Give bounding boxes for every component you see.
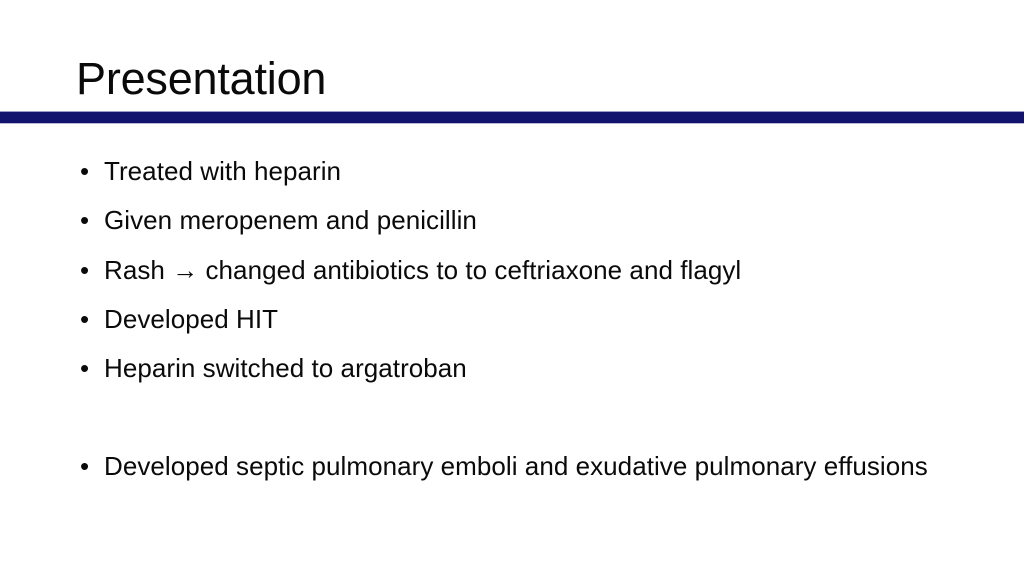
list-item-label: Developed HIT	[104, 303, 956, 336]
page-title: Presentation	[76, 54, 326, 104]
list-item: • Rash → changed antibiotics to to ceftr…	[76, 254, 956, 287]
bullet-list: • Treated with heparin • Given meropenem…	[76, 155, 956, 500]
list-item-label: Treated with heparin	[104, 155, 956, 188]
list-item: • Heparin switched to argatroban	[76, 352, 956, 385]
list-item-label: Developed septic pulmonary emboli and ex…	[104, 450, 956, 483]
list-item-label: Given meropenem and penicillin	[104, 204, 956, 237]
list-item-label: Rash → changed antibiotics to to ceftria…	[104, 254, 956, 287]
bullet-point-icon: •	[80, 303, 89, 336]
list-item: • Developed HIT	[76, 303, 956, 336]
list-item: • Developed septic pulmonary emboli and …	[76, 450, 956, 483]
list-item-spacer	[76, 401, 956, 434]
bullet-point-icon: •	[80, 352, 89, 385]
title-divider-rule	[0, 111, 1024, 124]
bullet-point-icon: •	[80, 254, 89, 287]
slide-canvas: Presentation • Treated with heparin • Gi…	[0, 0, 1024, 576]
bullet-point-icon: •	[80, 204, 89, 237]
list-item: • Treated with heparin	[76, 155, 956, 188]
list-item: • Given meropenem and penicillin	[76, 204, 956, 237]
bullet-point-icon: •	[80, 450, 89, 483]
bullet-point-icon: •	[80, 155, 89, 188]
list-item-label: Heparin switched to argatroban	[104, 352, 956, 385]
